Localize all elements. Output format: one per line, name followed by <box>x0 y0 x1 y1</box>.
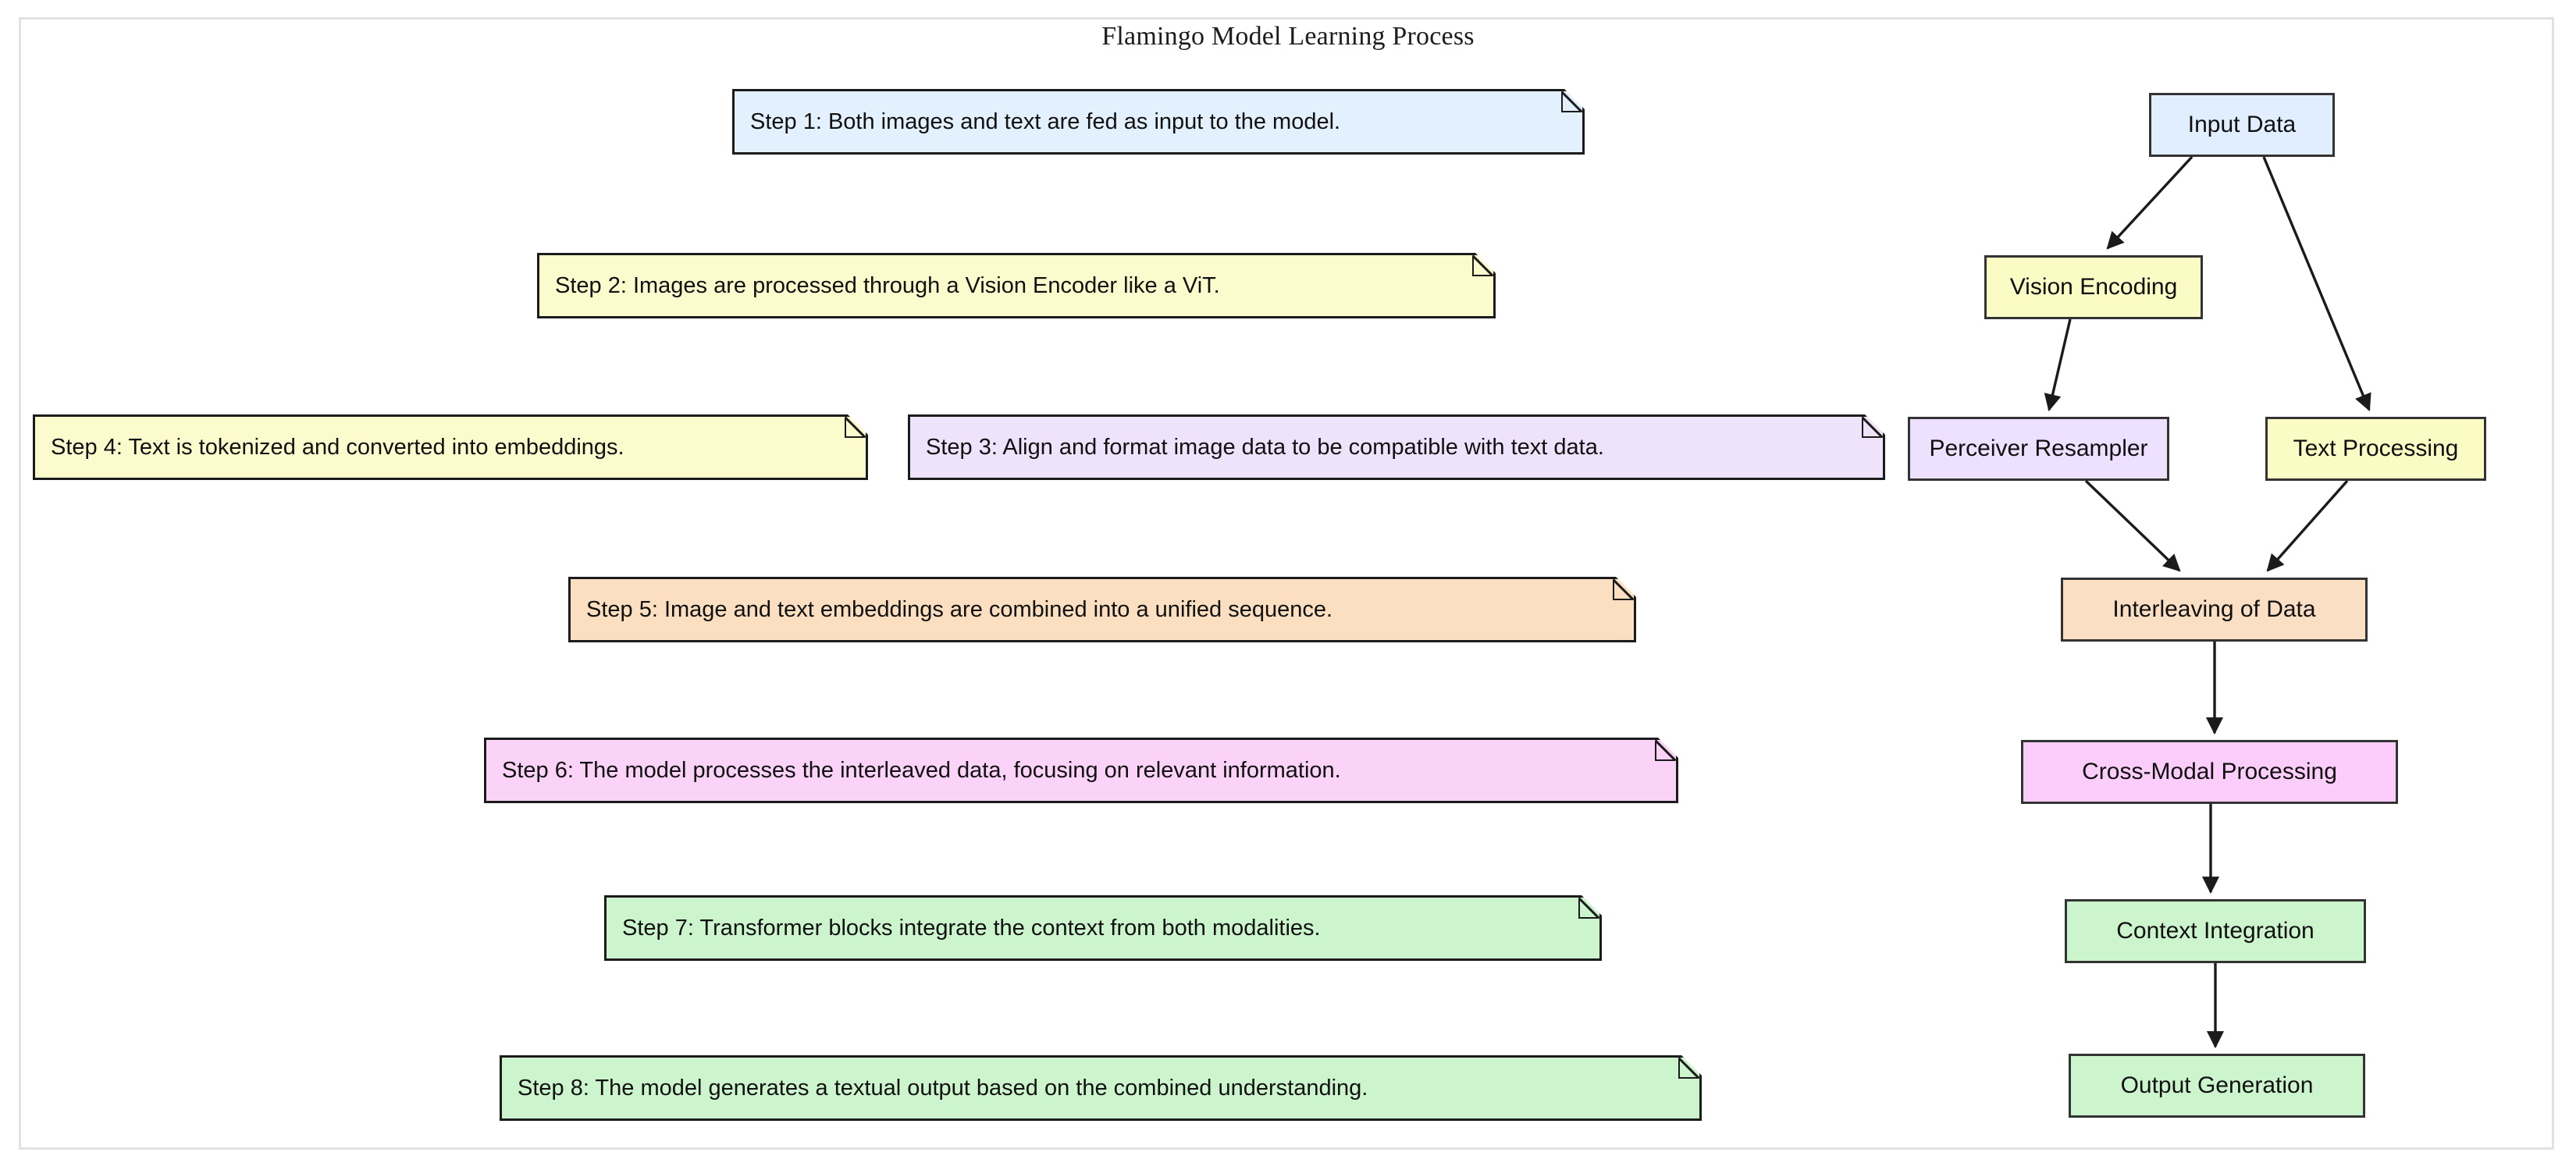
note-label: Step 3: Align and format image data to b… <box>910 435 1604 461</box>
node-interleaving-of-data[interactable]: Interleaving of Data <box>2061 578 2368 642</box>
node-label: Vision Encoding <box>2010 274 2178 301</box>
node-text-processing[interactable]: Text Processing <box>2265 417 2486 481</box>
node-label: Output Generation <box>2121 1072 2314 1099</box>
note-label: Step 1: Both images and text are fed as … <box>735 109 1340 135</box>
node-context-integration[interactable]: Context Integration <box>2065 899 2366 963</box>
node-input-data[interactable]: Input Data <box>2149 93 2335 157</box>
note-label: Step 7: Transformer blocks integrate the… <box>607 916 1321 941</box>
note-label: Step 2: Images are processed through a V… <box>539 273 1220 299</box>
node-label: Text Processing <box>2293 436 2459 462</box>
node-label: Interleaving of Data <box>2112 596 2315 623</box>
note-step-3: Step 3: Align and format image data to b… <box>908 414 1885 480</box>
note-step-2: Step 2: Images are processed through a V… <box>537 253 1496 318</box>
node-label: Cross-Modal Processing <box>2082 759 2337 785</box>
note-step-5: Step 5: Image and text embeddings are co… <box>568 577 1636 642</box>
note-label: Step 5: Image and text embeddings are co… <box>571 597 1332 623</box>
node-cross-modal-processing[interactable]: Cross-Modal Processing <box>2021 740 2398 804</box>
note-step-8: Step 8: The model generates a textual ou… <box>500 1055 1702 1121</box>
node-label: Input Data <box>2188 112 2296 138</box>
diagram-canvas: Flamingo Model Learning Process Step 1: … <box>0 0 2576 1170</box>
node-vision-encoding[interactable]: Vision Encoding <box>1984 255 2203 319</box>
note-step-4: Step 4: Text is tokenized and converted … <box>33 414 868 480</box>
note-label: Step 6: The model processes the interlea… <box>486 758 1341 784</box>
node-label: Perceiver Resampler <box>1929 436 2147 462</box>
note-step-7: Step 7: Transformer blocks integrate the… <box>604 895 1602 961</box>
note-step-1: Step 1: Both images and text are fed as … <box>732 89 1585 155</box>
note-step-6: Step 6: The model processes the interlea… <box>484 738 1678 803</box>
node-output-generation[interactable]: Output Generation <box>2069 1054 2365 1118</box>
note-label: Step 4: Text is tokenized and converted … <box>35 435 624 461</box>
node-label: Context Integration <box>2116 918 2314 944</box>
note-label: Step 8: The model generates a textual ou… <box>502 1076 1368 1101</box>
node-perceiver-resampler[interactable]: Perceiver Resampler <box>1908 417 2169 481</box>
page-title: Flamingo Model Learning Process <box>0 22 2576 52</box>
